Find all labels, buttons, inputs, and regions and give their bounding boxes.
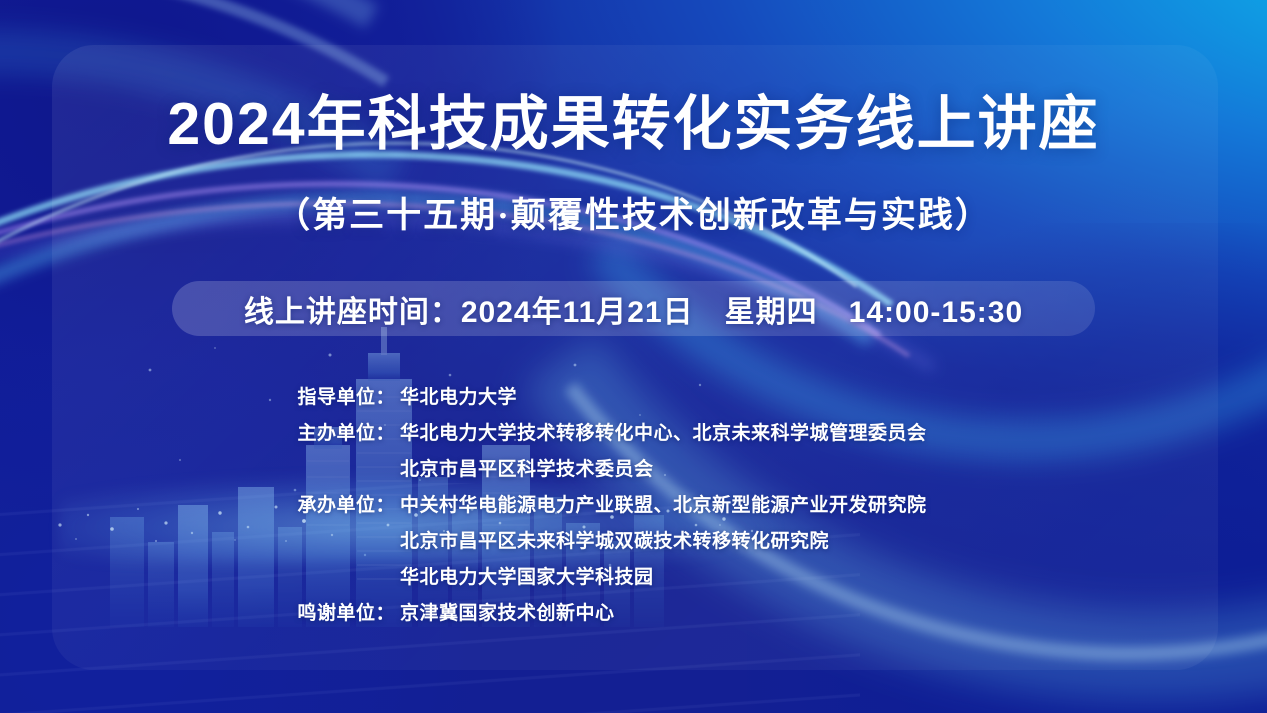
org-value: 华北电力大学技术转移转化中心、北京未来科学城管理委员会 — [400, 418, 927, 445]
org-value: 北京市昌平区科学技术委员会 — [400, 454, 654, 481]
page-title: 2024年科技成果转化实务线上讲座 — [0, 88, 1267, 160]
list-item: 承办单位： 中关村华电能源电力产业联盟、北京新型能源产业开发研究院 — [0, 490, 1267, 526]
organizations-list: 指导单位： 华北电力大学 主办单位： 华北电力大学技术转移转化中心、北京未来科学… — [0, 382, 1267, 634]
page-subtitle: （第三十五期·颠覆性技术创新改革与实践） — [0, 192, 1267, 240]
org-value: 华北电力大学 — [400, 382, 517, 409]
org-value: 华北电力大学国家大学科技园 — [400, 562, 654, 589]
schedule-text: 线上讲座时间：2024年11月21日 星期四 14:00-15:30 — [244, 287, 1023, 331]
list-item: 主办单位： 华北电力大学技术转移转化中心、北京未来科学城管理委员会 — [0, 418, 1267, 454]
schedule-banner: 线上讲座时间：2024年11月21日 星期四 14:00-15:30 — [172, 281, 1095, 336]
org-label: 承办单位： — [0, 490, 395, 517]
org-value: 京津冀国家技术创新中心 — [400, 598, 615, 625]
list-item: 北京市昌平区科学技术委员会 — [0, 454, 1267, 490]
poster-canvas: 2024年科技成果转化实务线上讲座 （第三十五期·颠覆性技术创新改革与实践） 线… — [0, 0, 1267, 713]
list-item: 北京市昌平区未来科学城双碳技术转移转化研究院 — [0, 526, 1267, 562]
list-item: 华北电力大学国家大学科技园 — [0, 562, 1267, 598]
org-value: 北京市昌平区未来科学城双碳技术转移转化研究院 — [400, 526, 829, 553]
list-item: 指导单位： 华北电力大学 — [0, 382, 1267, 418]
org-label: 鸣谢单位： — [0, 598, 395, 625]
poster-content: 2024年科技成果转化实务线上讲座 （第三十五期·颠覆性技术创新改革与实践） 线… — [0, 0, 1267, 713]
org-label: 主办单位： — [0, 418, 395, 445]
org-value: 中关村华电能源电力产业联盟、北京新型能源产业开发研究院 — [400, 490, 927, 517]
list-item: 鸣谢单位： 京津冀国家技术创新中心 — [0, 598, 1267, 634]
org-label: 指导单位： — [0, 382, 395, 409]
